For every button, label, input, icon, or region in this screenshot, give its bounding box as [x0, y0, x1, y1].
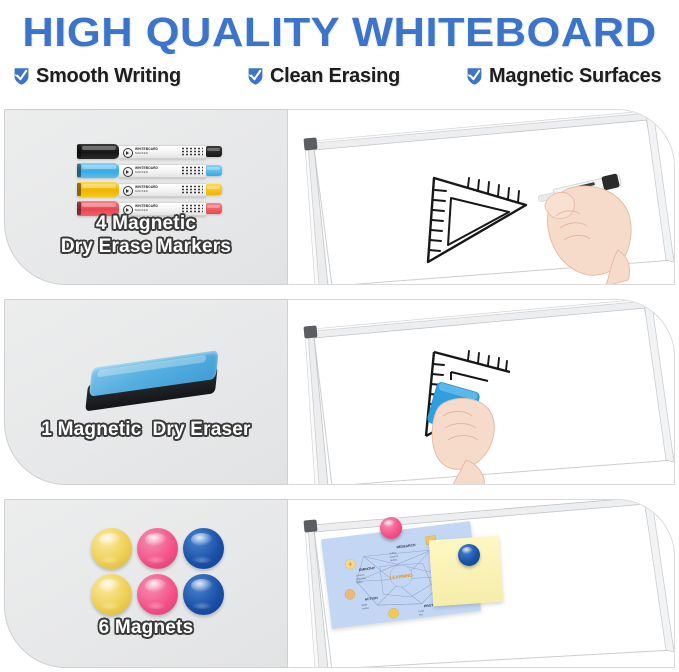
marker-logo-icon: [123, 167, 133, 177]
marker-set: WHITEBOARDMARKER WHITEBOARDMARKER: [77, 143, 222, 219]
product-row-markers: WHITEBOARDMARKER WHITEBOARDMARKER: [4, 109, 675, 285]
product-caption: 4 Magnetic Dry Erase Markers: [5, 212, 287, 258]
marker-dot-pattern: [181, 147, 203, 156]
marker-brand-text: WHITEBOARDMARKER: [135, 204, 158, 213]
whiteboard-scene: LEARNING EMPATHY RESEARCH IDEATE PROTOTY…: [288, 500, 674, 667]
scene-panel-magnets: LEARNING EMPATHY RESEARCH IDEATE PROTOTY…: [288, 499, 675, 668]
product-panel-magnets: 6 Magnets: [4, 499, 288, 668]
marker-tip: [206, 146, 222, 157]
product-caption: 1 Magnetic Dry Eraser: [5, 418, 287, 441]
feature-list: Smooth Writing Clean Erasing Magneti: [0, 54, 679, 88]
marker-tip: [206, 184, 222, 195]
feature-item-magnetic-surfaces: Magnetic Surfaces: [465, 64, 667, 88]
feature-item-clean-erasing: Clean Erasing: [246, 64, 404, 88]
marker-logo-icon: [123, 148, 133, 158]
scene-panel-erasing: [288, 299, 675, 485]
whiteboard-scene: [288, 300, 674, 484]
yellow-magnet: [91, 528, 132, 569]
marker-cap: [77, 182, 119, 197]
product-row-magnets: 6 Magnets: [4, 499, 675, 668]
marker-tip: [206, 165, 222, 176]
blue-magnet: [183, 574, 224, 615]
product-panel-markers: WHITEBOARDMARKER WHITEBOARDMARKER: [4, 109, 288, 285]
whiteboard-scene: [288, 110, 674, 284]
pink-magnet: [380, 517, 402, 539]
pink-magnet: [137, 574, 178, 615]
yellow-magnet: [91, 574, 132, 615]
blue-magnet: [183, 528, 224, 569]
marker-yellow: WHITEBOARDMARKER: [77, 181, 222, 198]
marker-dot-pattern: [181, 166, 203, 175]
marker-cap: [77, 144, 119, 159]
scene-panel-writing: [288, 109, 675, 285]
feature-label: Smooth Writing: [36, 64, 181, 88]
pink-magnet: [137, 528, 178, 569]
marker-black: WHITEBOARDMARKER: [77, 143, 222, 160]
marker-brand-text: WHITEBOARDMARKER: [135, 166, 158, 175]
marker-blue: WHITEBOARDMARKER: [77, 162, 222, 179]
marker-dot-pattern: [181, 185, 203, 194]
marker-logo-icon: [123, 186, 133, 196]
feature-label: Clean Erasing: [270, 64, 400, 88]
marker-body: WHITEBOARDMARKER: [119, 183, 206, 197]
check-badge-icon: [12, 67, 31, 86]
feature-label: Magnetic Surfaces: [489, 64, 661, 88]
magnet-set: [91, 528, 227, 618]
marker-brand-text: WHITEBOARDMARKER: [135, 185, 158, 194]
product-panel-eraser: 1 Magnetic Dry Eraser: [4, 299, 288, 485]
marker-cap: [77, 163, 119, 178]
page-title: HIGH QUALITY WHITEBOARD: [0, 10, 679, 54]
product-row-eraser: 1 Magnetic Dry Eraser: [4, 299, 675, 485]
blue-magnet: [458, 544, 480, 566]
product-caption: 6 Magnets: [5, 616, 287, 639]
svg-text:test: test: [419, 613, 424, 617]
header: HIGH QUALITY WHITEBOARD Smooth Writing: [0, 0, 679, 88]
marker-body: WHITEBOARDMARKER: [119, 164, 206, 178]
marker-brand-text: WHITEBOARDMARKER: [135, 147, 158, 156]
check-badge-icon: [246, 67, 265, 86]
feature-item-smooth-writing: Smooth Writing: [12, 64, 185, 88]
check-badge-icon: [465, 67, 484, 86]
eraser-product-image: [80, 347, 221, 417]
marker-body: WHITEBOARDMARKER: [119, 145, 206, 159]
